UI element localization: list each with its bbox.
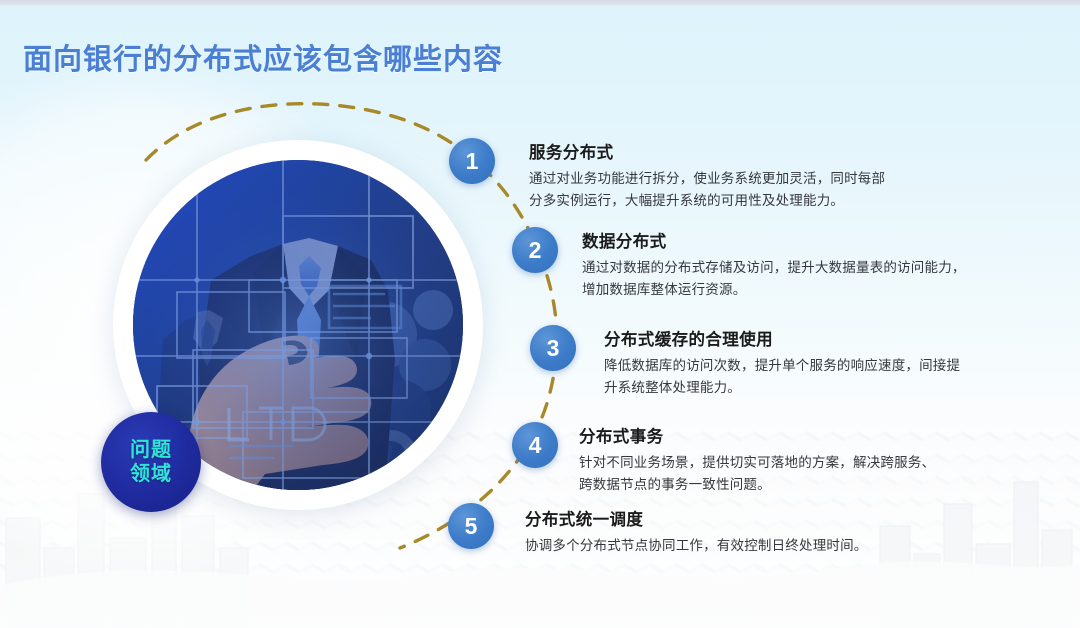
problem-domain-line-1: 问题	[130, 438, 172, 462]
page-title: 面向银行的分布式应该包含哪些内容	[23, 36, 503, 78]
slide-canvas: 面向银行的分布式应该包含哪些内容 问题 领域 1 服务分布式 通过对业务功能进行…	[0, 0, 1080, 628]
item-desc-2: 通过对数据的分布式存储及访问，提升大数据量表的访问能力， 增加数据库整体运行资源…	[582, 257, 1002, 301]
item-desc-3: 降低数据库的访问次数，提升单个服务的响应速度，间接提 升系统整体处理能力。	[604, 355, 1004, 399]
problem-domain-badge: 问题 领域	[101, 412, 201, 512]
problem-domain-line-2: 领域	[130, 462, 172, 486]
item-heading-2: 数据分布式	[582, 228, 1002, 252]
item-body-2: 数据分布式 通过对数据的分布式存储及访问，提升大数据量表的访问能力， 增加数据库…	[582, 228, 1002, 301]
item-number-badge-4: 4	[512, 422, 558, 468]
item-body-1: 服务分布式 通过对业务功能进行拆分，使业务系统更加灵活，同时每部 分多实例运行，…	[529, 139, 929, 212]
item-number-badge-5: 5	[448, 503, 494, 549]
item-heading-3: 分布式缓存的合理使用	[604, 326, 1004, 350]
item-desc-1: 通过对业务功能进行拆分，使业务系统更加灵活，同时每部 分多实例运行，大幅提升系统…	[529, 168, 929, 212]
item-body-4: 分布式事务 针对不同业务场景，提供切实可落地的方案，解决跨服务、 跨数据节点的事…	[579, 423, 979, 496]
item-number-badge-1: 1	[449, 138, 495, 184]
item-number-badge-3: 3	[530, 325, 576, 371]
item-number-badge-2: 2	[512, 227, 558, 273]
item-body-3: 分布式缓存的合理使用 降低数据库的访问次数，提升单个服务的响应速度，间接提 升系…	[604, 326, 1004, 399]
item-desc-4: 针对不同业务场景，提供切实可落地的方案，解决跨服务、 跨数据节点的事务一致性问题…	[579, 452, 979, 496]
item-heading-1: 服务分布式	[529, 139, 929, 163]
item-heading-5: 分布式统一调度	[525, 506, 945, 530]
item-heading-4: 分布式事务	[579, 423, 979, 447]
item-body-5: 分布式统一调度 协调多个分布式节点协同工作，有效控制日终处理时间。	[525, 506, 945, 557]
item-desc-5: 协调多个分布式节点协同工作，有效控制日终处理时间。	[525, 535, 945, 557]
top-gray-strip	[0, 0, 1080, 6]
